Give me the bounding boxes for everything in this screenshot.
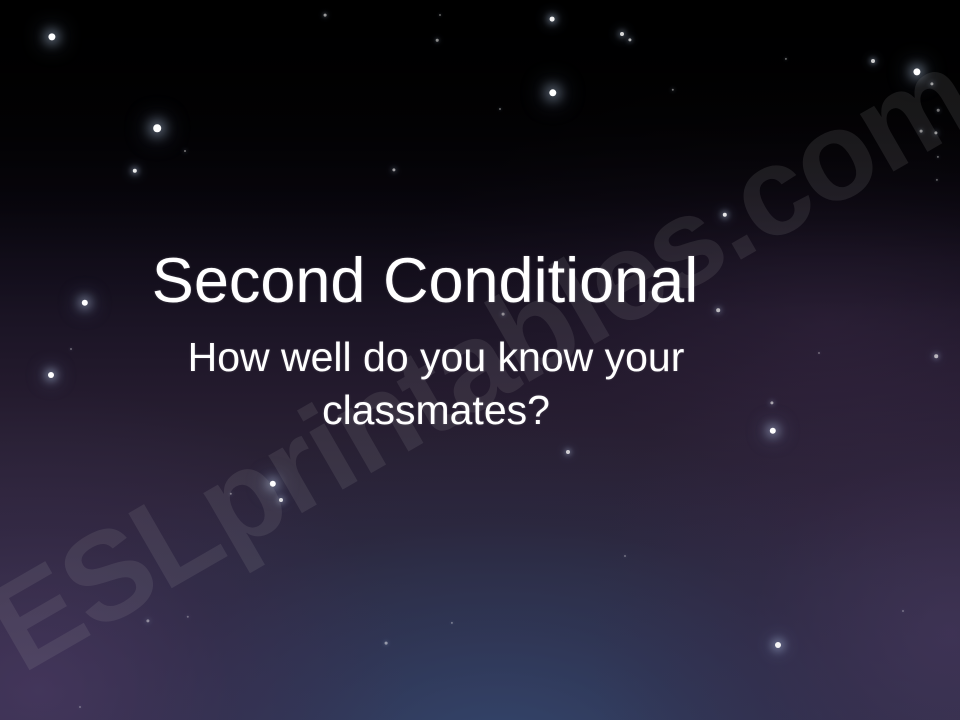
slide-subtitle-line-1: How well do you know your xyxy=(0,331,872,384)
presentation-slide: ESLprintables.com Second Conditional How… xyxy=(0,0,960,720)
slide-subtitle: How well do you know your classmates? xyxy=(0,331,960,438)
slide-subtitle-line-2: classmates? xyxy=(0,384,872,437)
slide-title: Second Conditional xyxy=(0,248,960,315)
slide-text-layer: Second Conditional How well do you know … xyxy=(0,0,960,720)
